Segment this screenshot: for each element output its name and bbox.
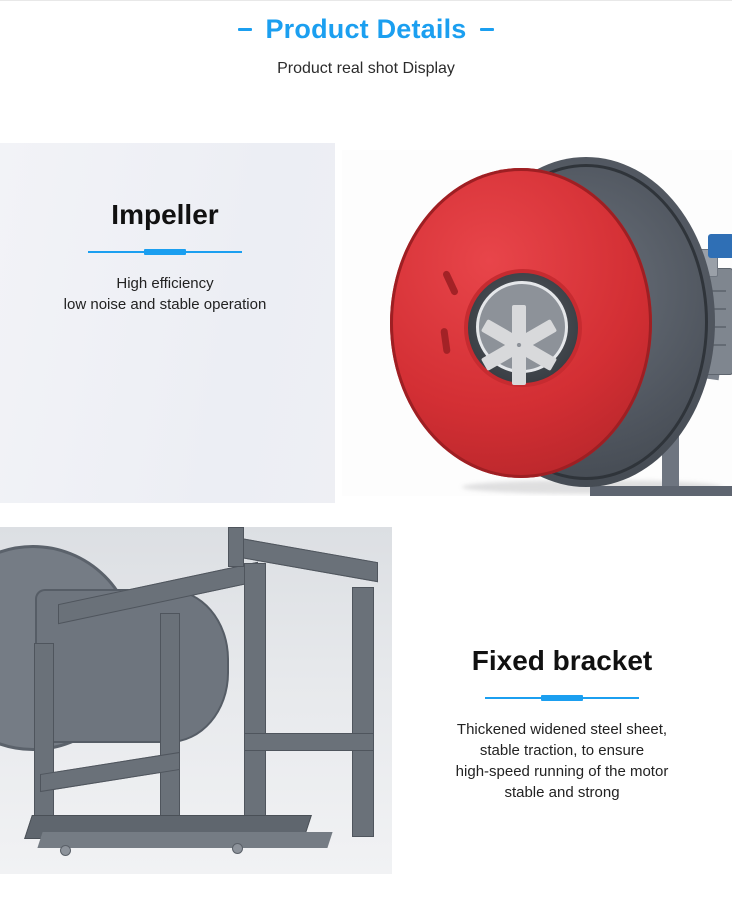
title-row: Product Details	[0, 12, 732, 46]
frame-post-mid	[160, 613, 180, 839]
section-fixed-bracket: Fixed bracket Thickened widened steel sh…	[0, 527, 732, 887]
impeller-text-block: Impeller High efficiency low noise and s…	[0, 198, 330, 315]
fixed-bracket-divider	[485, 697, 639, 699]
fixed-bracket-description: Thickened widened steel sheet, stable tr…	[392, 719, 732, 803]
frame-post-left-rear	[244, 563, 266, 831]
bracket-base-plate-lower	[37, 832, 332, 848]
frame-post-right	[352, 587, 374, 837]
impeller-title: Impeller	[0, 198, 330, 232]
impeller-divider-nub	[144, 249, 186, 255]
page-header: Product Details Product real shot Displa…	[0, 12, 732, 80]
motor-blue-cap	[708, 234, 732, 258]
impeller-divider	[88, 251, 242, 253]
impeller-photo-inner	[342, 150, 732, 496]
section-impeller: Impeller High efficiency low noise and s…	[0, 143, 732, 503]
fixed-bracket-title: Fixed bracket	[392, 644, 732, 678]
fixed-bracket-divider-nub	[541, 695, 583, 701]
frame-rail-right	[244, 733, 374, 751]
fixed-bracket-text-block: Fixed bracket Thickened widened steel sh…	[392, 644, 732, 803]
fixed-bracket-description-line-1: Thickened widened steel sheet,	[392, 719, 732, 740]
bracket-bolt-3	[60, 845, 71, 856]
impeller-description-line-1: High efficiency	[0, 273, 330, 294]
top-divider	[0, 0, 732, 1]
title-dash-right-icon	[480, 28, 494, 31]
product-details-page: Product Details Product real shot Displa…	[0, 0, 732, 899]
fixed-bracket-description-line-4: stable and strong	[392, 782, 732, 803]
fixed-bracket-photo	[0, 527, 392, 874]
frame-bolt-post	[228, 527, 244, 567]
stand-base-plate	[590, 486, 732, 496]
page-title: Product Details	[265, 12, 466, 46]
bracket-bolt-2	[232, 843, 243, 854]
fixed-bracket-description-line-2: stable traction, to ensure	[392, 740, 732, 761]
impeller-description-line-2: low noise and stable operation	[0, 294, 330, 315]
title-dash-left-icon	[238, 28, 252, 31]
frame-post-left-front	[34, 643, 54, 839]
page-subtitle: Product real shot Display	[0, 58, 732, 80]
impeller-photo	[335, 143, 732, 503]
fixed-bracket-description-line-3: high-speed running of the motor	[392, 761, 732, 782]
impeller-description: High efficiency low noise and stable ope…	[0, 273, 330, 315]
